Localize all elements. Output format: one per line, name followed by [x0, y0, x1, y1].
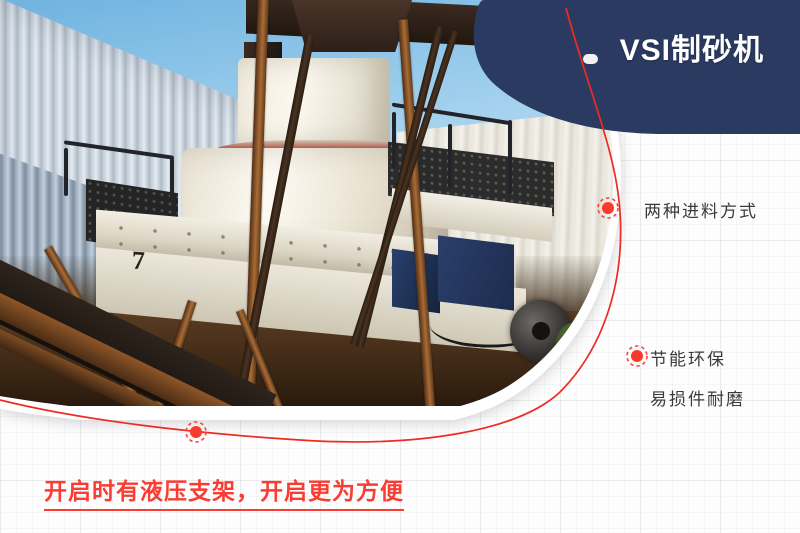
- bullet-dot-icon: [583, 54, 598, 64]
- machine-numeral: 7: [132, 246, 145, 277]
- railing-post-a: [392, 112, 396, 168]
- annotation-label-wear: 易损件耐磨: [650, 385, 745, 410]
- railing-post-e: [170, 158, 174, 202]
- railing-post-c: [448, 124, 452, 188]
- annotation-label-energy: 节能环保: [650, 345, 726, 370]
- promo-banner: 7 VSI制砂: [0, 0, 800, 533]
- page-title: VSI制砂机: [620, 36, 764, 66]
- railing-post-b: [508, 120, 512, 194]
- railing-post-d: [64, 148, 68, 196]
- bottom-caption: 开启时有液压支架，开启更为方便: [44, 472, 404, 511]
- annotation-label-feeding: 两种进料方式: [644, 197, 758, 222]
